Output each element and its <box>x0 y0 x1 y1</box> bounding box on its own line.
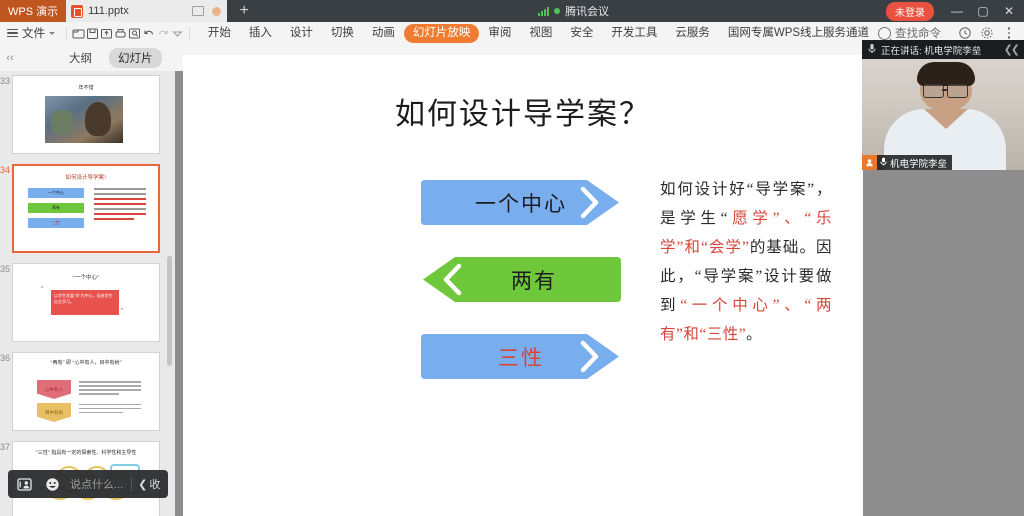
thumbnail-photo <box>45 96 123 143</box>
save-icon[interactable] <box>86 24 100 43</box>
eyeglasses-left-lens <box>923 84 944 98</box>
tab-review[interactable]: 审阅 <box>479 24 520 43</box>
thumbnail-banner: 两有 <box>28 203 84 213</box>
file-menu-label: 文件 <box>22 25 45 41</box>
thumbnail-scrollbar[interactable] <box>167 256 172 366</box>
print-icon[interactable] <box>114 24 128 43</box>
signal-strength-icon <box>538 7 549 16</box>
thumbnail-number: 36 <box>0 352 12 431</box>
collapse-chat-button[interactable]: ❮ 收 <box>132 476 166 492</box>
tab-security[interactable]: 安全 <box>561 24 602 43</box>
quote-open-mark: “ <box>41 286 43 293</box>
banner-label: 三性 <box>498 342 544 372</box>
thumbnail-number: 35 <box>0 263 12 342</box>
powerpoint-file-icon <box>71 5 83 18</box>
app-name-label: WPS 演示 <box>0 0 66 22</box>
chevron-down-icon <box>49 32 55 35</box>
tab-start[interactable]: 开始 <box>199 24 240 43</box>
eyeglasses-right-lens <box>947 84 968 98</box>
search-icon <box>878 27 891 40</box>
eyeglasses-bridge <box>942 89 948 91</box>
tab-view[interactable]: 视图 <box>520 24 561 43</box>
thumbnail-slide-35[interactable]: “一个中心” 以学生发展“学”为中心，促进学生自主学习。 “ ” <box>12 263 160 342</box>
emoji-icon[interactable] <box>38 470 66 498</box>
tab-animation[interactable]: 动画 <box>363 24 404 43</box>
meeting-video-panel[interactable]: 正在讲话: 机电学院李垒 ❮❮ 机电学院李垒 <box>862 40 1024 170</box>
wps-presentation-window: WPS 演示 111.pptx + 腾讯会议 未登录 — ▢ ✕ 文件 <box>0 0 1024 516</box>
thumbnail-banner: 三性 <box>28 218 84 228</box>
banner-two-have[interactable]: 两有 <box>417 255 625 304</box>
slide-title[interactable]: 如何设计导学案？ <box>183 89 863 133</box>
document-tab-111[interactable]: 111.pptx <box>66 0 227 22</box>
thumbnail-chevron-gold: 目中有树 <box>37 403 71 422</box>
new-tab-button[interactable]: + <box>227 0 261 22</box>
close-button[interactable]: ✕ <box>996 0 1022 22</box>
thumbnail-title: “一个中心” <box>13 273 159 281</box>
undo-icon[interactable] <box>142 24 156 43</box>
minimize-button[interactable]: — <box>944 0 970 22</box>
thumbnail-quote-box: 以学生发展“学”为中心，促进学生自主学习。 <box>51 290 119 315</box>
tab-developer-tools[interactable]: 开发工具 <box>602 24 666 43</box>
thumbnail-paragraph <box>79 381 141 413</box>
tab-slides[interactable]: 幻灯片 <box>109 48 162 68</box>
divider <box>66 27 67 40</box>
find-replace-icon[interactable] <box>128 24 142 43</box>
thumbnail-title: “三性” 指具有一定的探索性、科学性和主导性 <box>31 450 141 457</box>
thumbnail-body-text <box>94 188 146 220</box>
tab-slideshow[interactable]: 幻灯片放映 <box>404 24 480 43</box>
record-dot-icon[interactable] <box>212 7 221 16</box>
current-slide[interactable]: 如何设计导学案？ 一个中心 两有 <box>183 55 863 516</box>
document-tab-label: 111.pptx <box>88 5 129 17</box>
thumbnail-title: 如何设计导学案? <box>14 173 158 181</box>
hamburger-icon <box>7 29 18 37</box>
thumbnail-chevron-red: 心中有人 <box>37 380 71 399</box>
banner-one-center[interactable]: 一个中心 <box>417 178 625 227</box>
person-hair <box>917 62 975 86</box>
tab-transition[interactable]: 切换 <box>322 24 363 43</box>
thumbnail-title: “两有” 即 “心中有人，目中有树” <box>31 360 141 367</box>
speaking-label: 正在讲话: 机电学院李垒 <box>881 43 981 57</box>
speaking-indicator: 正在讲话: 机电学院李垒 ❮❮ <box>862 40 1024 59</box>
slide-banner-group: 一个中心 两有 三性 <box>417 178 625 409</box>
tab-outline[interactable]: 大纲 <box>60 48 101 68</box>
tab-insert[interactable]: 插入 <box>240 24 281 43</box>
participant-name-badge: 机电学院李垒 <box>862 155 952 170</box>
banner-label: 一个中心 <box>475 188 567 218</box>
banner-three-nature[interactable]: 三性 <box>417 332 625 381</box>
participant-name-label: 机电学院李垒 <box>890 156 947 170</box>
tab-cloud-service[interactable]: 云服务 <box>666 24 719 43</box>
divider <box>189 27 190 40</box>
redo-icon[interactable] <box>156 24 170 43</box>
tab-wps-online-service[interactable]: 国网专属WPS线上服务通道 <box>719 24 878 43</box>
thumbnail-slide-36[interactable]: “两有” 即 “心中有人，目中有树” 心中有人 目中有树 <box>12 352 160 431</box>
monitor-icon[interactable] <box>192 6 204 16</box>
collapse-video-icon[interactable]: ❮❮ <box>1004 43 1018 56</box>
search-placeholder-label: 查找命令 <box>895 25 941 41</box>
meeting-label: 腾讯会议 <box>565 3 609 19</box>
thumbnail-banner: 一个中心 <box>28 188 84 198</box>
meeting-status-dot <box>554 8 560 14</box>
microphone-icon <box>868 43 876 57</box>
body-segment: 。 <box>746 326 762 343</box>
collapse-left-icon[interactable]: ‹‹ <box>0 52 20 64</box>
quote-close-mark: ” <box>121 308 123 315</box>
meeting-chat-toolbar[interactable]: 说点什么... ❮ 收 <box>8 470 168 498</box>
chevron-left-icon: ❮ <box>138 478 147 491</box>
meeting-indicator[interactable]: 腾讯会议 <box>261 0 886 22</box>
slide-body-text[interactable]: 如何设计好“导学案”，是学生“愿学”、“乐学”和“会学”的基础。因此，“导学案”… <box>660 175 832 349</box>
title-bar: WPS 演示 111.pptx + 腾讯会议 未登录 — ▢ ✕ <box>0 0 1024 22</box>
participant-avatar-icon <box>862 155 877 170</box>
thumbnail-number: 34 <box>0 164 12 253</box>
video-feed: 机电学院李垒 <box>862 59 1024 170</box>
thumbnail-title: 年不惜 <box>13 84 159 91</box>
login-status-badge[interactable]: 未登录 <box>886 2 934 21</box>
new-file-icon[interactable] <box>72 24 86 43</box>
file-menu-button[interactable]: 文件 <box>0 22 61 44</box>
microphone-icon <box>880 157 887 169</box>
thumbnail-slide-34[interactable]: 如何设计导学案? 一个中心 两有 三性 <box>12 164 160 253</box>
tab-design[interactable]: 设计 <box>281 24 322 43</box>
banner-label: 两有 <box>511 265 557 295</box>
slide-thumbnail-panel[interactable]: 33 年不惜 34 如何设计导学案? 一个中心 两有 三性 <box>0 71 175 516</box>
customize-dropdown-icon[interactable] <box>170 24 184 43</box>
collapse-label: 收 <box>149 476 160 492</box>
thumbnail-slide-33[interactable]: 年不惜 <box>12 75 160 154</box>
share-screen-icon[interactable] <box>10 470 38 498</box>
thumbnail-number: 33 <box>0 75 12 154</box>
maximize-button[interactable]: ▢ <box>970 0 996 22</box>
print-preview-icon[interactable] <box>100 24 114 43</box>
search-command-box[interactable]: 查找命令 <box>878 25 953 41</box>
chat-input[interactable]: 说点什么... <box>66 476 131 492</box>
ribbon-tabs: 开始 插入 设计 切换 动画 幻灯片放映 审阅 视图 安全 开发工具 云服务 国… <box>199 24 878 43</box>
